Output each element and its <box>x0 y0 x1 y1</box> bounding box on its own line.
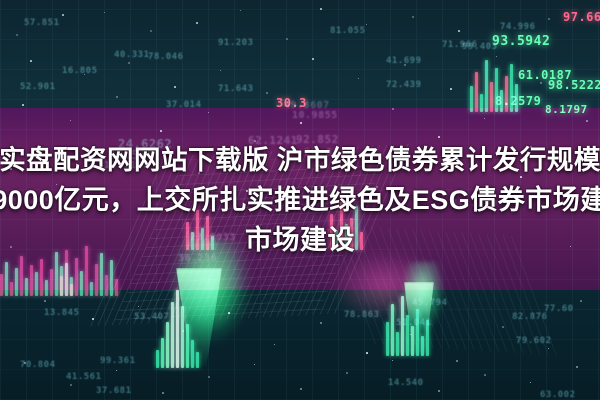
particle <box>30 60 32 62</box>
particle <box>346 372 348 374</box>
particle <box>22 104 24 106</box>
particle <box>92 318 94 320</box>
particle <box>300 122 302 124</box>
particle <box>366 352 368 354</box>
particle <box>196 22 198 24</box>
particle <box>10 246 12 248</box>
chart-grid-horizontal <box>0 0 600 400</box>
particle <box>520 176 522 178</box>
particle <box>70 384 72 386</box>
particle <box>312 58 314 60</box>
particle <box>160 130 162 132</box>
particle <box>228 312 230 314</box>
particle <box>10 168 12 170</box>
particle <box>320 8 322 10</box>
banner-image: 93.594261.018798.52228.25798.179797.6683… <box>0 0 600 400</box>
particle <box>502 326 504 328</box>
particle <box>450 88 452 90</box>
particle <box>458 30 460 32</box>
particle <box>580 300 582 302</box>
particle <box>208 376 210 378</box>
particle <box>438 136 440 138</box>
particle <box>174 86 176 88</box>
particle <box>62 14 64 16</box>
particle <box>246 190 248 192</box>
particle <box>484 374 486 376</box>
